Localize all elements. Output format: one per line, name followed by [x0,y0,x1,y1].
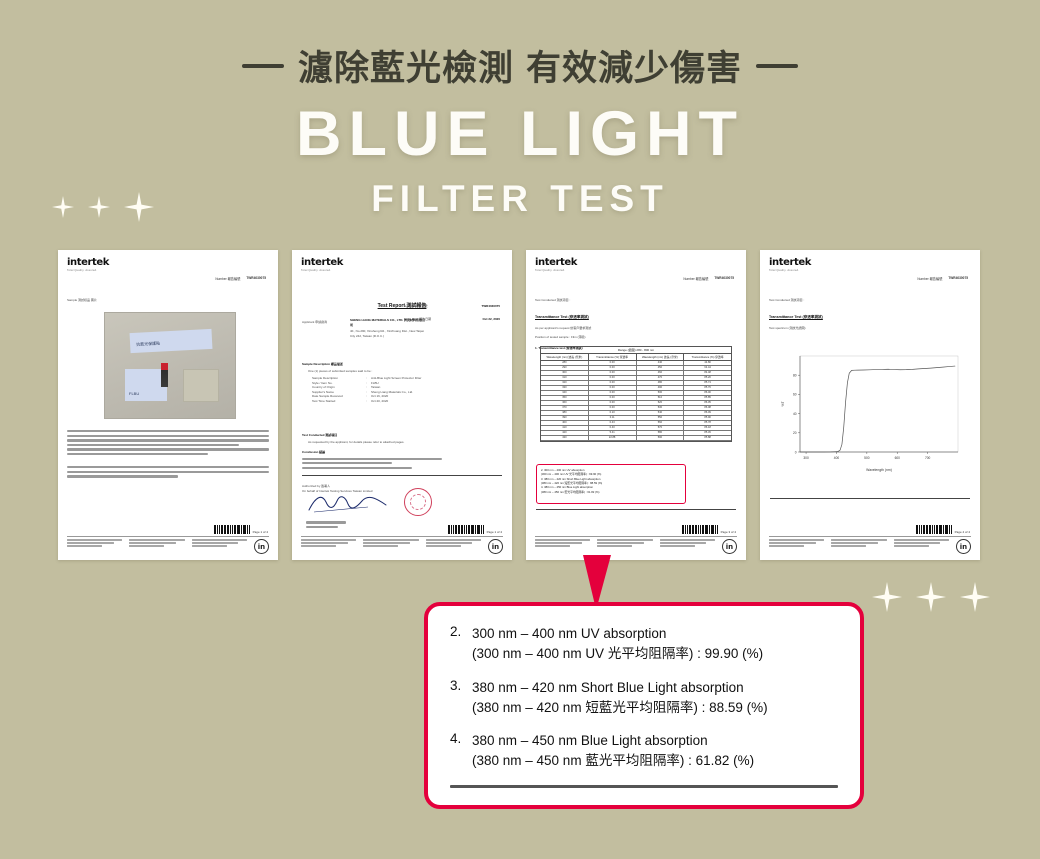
svg-text:20: 20 [793,431,797,435]
chinese-headline-left: 濾除藍光檢測 [298,49,514,89]
table-cell: 310 [541,376,589,380]
sample-field-value: Oct 20, 2020 [371,399,388,404]
report-number-row: Number 報告編號 TWR4030075 [917,276,968,281]
table-cell: 350 [541,396,589,400]
table-cell: 0.00 [589,401,637,405]
table-cell: 5.41 [589,431,637,435]
transmittance-table: Range (範圍) 280 - 800 nm Wavelength (nm) … [540,346,732,442]
svg-text:600: 600 [895,456,901,460]
results-callout: 2. 300 nm – 400 nm UV absorption (300 nm… [424,602,864,809]
table-cell: 85.20 [684,376,731,380]
result-line-en: 380 nm – 420 nm Short Blue Light absorpt… [472,680,744,695]
report-number-label: Number 報告編號 [404,304,478,309]
barcode [682,525,718,534]
table-cell: 85.74 [684,381,731,385]
result-item: 2. 300 nm – 400 nm UV absorption (300 nm… [450,624,838,665]
column-header: Wavelength (nm) 波長 (奈米) [637,354,685,360]
table-range-header: Range (範圍) 280 - 800 nm [541,347,731,354]
disclaimer-text [67,430,269,457]
footer-col [129,539,187,548]
sample-section: Sample Description 樣品描述 One (1) pieces o… [302,362,502,403]
table-cell: 0.00 [589,396,637,400]
in-logo-icon: in [956,539,971,554]
intertek-logo: intertek [535,257,737,268]
svg-text:300: 300 [803,456,809,460]
page-subtitle: FILTER TEST [0,178,1040,220]
sparkle-icon [960,582,990,612]
photo-label-large: 抗藍光保護貼 [130,329,213,353]
document-card-photo[interactable]: intertek Total Quality. Assured. Number … [58,250,278,560]
table-cell: 0.11 [589,416,637,420]
report-number-value: TWR4030075 [714,276,734,281]
sparkle-icon [124,192,154,222]
in-logo-icon: in [488,539,503,554]
report-number-value: TWR4030075 [948,276,968,281]
chinese-headline-right: 有效減少傷害 [526,49,742,89]
table-cell: 400 [541,421,589,425]
table-cell: 0.00 [589,406,637,410]
table-cell: 420 [541,431,589,435]
table-cell: 300 [541,371,589,375]
in-logo-icon: in [254,539,269,554]
applicant-value: SHENG LIANG MATERIALS CO., LTD. 昇亮材料有限公司 [350,318,428,327]
chinese-headline-text: 濾除藍光檢測有效減少傷害 [298,40,742,91]
table-cell: 85.85 [684,396,731,400]
result-number: 2. [450,624,464,665]
callout-underline [450,785,838,788]
report-number-label: Number 報告編號 [917,276,942,281]
document-card-chart[interactable]: intertek Total Quality. Assured. Number … [760,250,980,560]
footer-col [769,539,827,548]
table-cell: 500 [637,391,685,395]
document-footer: in [67,536,269,555]
table-cell: 410 [541,426,589,430]
document-footer: in [535,536,737,555]
table-cell: 0.10 [589,411,637,415]
in-logo-icon: in [722,539,737,554]
table-cell: 0.00 [589,391,637,395]
footer-col [192,539,250,548]
table-cell: 0.00 [589,371,637,375]
table-cell: 360 [541,401,589,405]
table-cell: 86.00 [684,391,731,395]
table-cell: 460 [637,371,685,375]
test-conducted-label: Test Conducted 測試項目 : [769,298,971,303]
transmittance-subtitle-2: Position of tested sample : Film (薄膜) [535,335,737,340]
svg-text:40: 40 [793,412,797,416]
poster-canvas: 濾除藍光檢測有效減少傷害 BLUE LIGHT FILTER TEST inte… [0,0,1040,859]
table-cell: 86.09 [684,411,731,415]
sample-field-list: Sample Description:Anti-Blue Light Scree… [312,376,502,403]
table-cell: 0.00 [589,376,637,380]
table-cell: 85.88 [684,436,731,440]
sparkle-icon [52,196,74,218]
sample-field-key: Test Time Started [312,399,366,404]
sample-section-title: Sample Description 樣品描述 [302,362,502,367]
table-cell: 550 [637,416,685,420]
table-cell: 320 [541,381,589,385]
barcode-row: Page 1 of 4 [448,525,502,534]
result-line: (380 nm – 450 nm 藍光平均阻隔率) : 61.82 (%) [541,490,681,494]
headline-dash-right [756,64,798,68]
transmittance-subtitle-1: As per applicant's request 依客戶要求測試 [535,326,737,331]
result-body: 380 nm – 420 nm Short Blue Light absorpt… [472,678,768,719]
sparkle-group-right [872,582,990,612]
column-header: Transmittance (%) 穿透率 [589,354,637,360]
svg-text:500: 500 [864,456,870,460]
table-cell: 390 [541,416,589,420]
disclaimer-text-2 [67,466,269,480]
result-body: 300 nm – 400 nm UV absorption (300 nm – … [472,624,763,665]
document-card-table[interactable]: intertek Total Quality. Assured. Number … [526,250,746,560]
photo-sample-swatch [183,369,219,402]
svg-text:60: 60 [793,393,797,397]
test-section-title: Test Conducted 測試項目 [302,433,502,438]
barcode [448,525,484,534]
table-cell: 540 [637,411,685,415]
table-cell: 44.80 [684,361,731,365]
table-cell: 0.00 [589,361,637,365]
issue-date-value: Oct 22, 2020 [482,317,500,322]
barcode [214,525,250,534]
table-cell: 0.00 [589,381,637,385]
table-cell: 580 [637,431,685,435]
table-cell: 510 [637,396,685,400]
conclusion-section: Conclusion 結論 [302,450,502,471]
photo-caption: Sample 測試樣品 圖片 [67,298,269,303]
svg-text:%T: %T [781,401,785,406]
footer-col [597,539,655,548]
signer-name-block [306,521,346,528]
table-cell: 520 [637,401,685,405]
table-cell: 340 [541,391,589,395]
sample-section-line: One (1) pieces of submitted samples said… [308,369,502,374]
result-line-cn: (380 nm – 420 nm 短藍光平均阻隔率) : 88.59 (%) [472,700,768,715]
table-cell: 380 [541,411,589,415]
document-card-report[interactable]: intertek Total Quality. Assured. Test Re… [292,250,512,560]
barcode-row: Page 4 of 4 [916,525,970,534]
signature [306,492,398,514]
sparkle-group-left [52,192,154,222]
footer-col [301,539,359,548]
report-number-value: TWR4030075 [481,304,500,309]
result-number: 4. [450,731,464,772]
table-cell: 370 [541,406,589,410]
table-cell: 84.48 [684,371,731,375]
footer-col [660,539,718,548]
table-cell: 490 [637,386,685,390]
chinese-headline: 濾除藍光檢測有效減少傷害 [0,40,1040,91]
highlighted-results-box: 2. 300 nm – 400 nm UV absorption (300 nm… [536,464,686,504]
sample-field-row: Test Time Started:Oct 20, 2020 [312,399,502,404]
report-number-row: Number 報告編號 TWR4030075 [215,276,266,281]
barcode-row: Page 1 of 4 [214,525,268,534]
intertek-tagline: Total Quality. Assured. [301,269,503,272]
footer-col [426,539,484,548]
footer-col [363,539,421,548]
spectrum-plot: 300400500600700020406080Wavelength (nm)%… [778,348,964,476]
svg-text:700: 700 [925,456,931,460]
page-label: Page 4 of 4 [955,530,970,534]
table-row: 43022.8859085.88 [541,436,731,441]
sparkle-icon [872,582,902,612]
table-cell: 85.90 [684,416,731,420]
document-footer: in [301,536,503,555]
intertek-logo: intertek [67,257,269,268]
transmittance-section-title: Transmittance Test (穿透率測試) [769,315,971,320]
svg-text:0: 0 [795,450,797,454]
transmittance-chart: 300400500600700020406080Wavelength (nm)%… [778,348,964,476]
result-line-en: 300 nm – 400 nm UV absorption [472,626,666,641]
table-cell: 570 [637,426,685,430]
page-label: Page 1 of 4 [253,530,268,534]
applicant-value-block: SHENG LIANG MATERIALS CO., LTD. 昇亮材料有限公司… [350,318,428,338]
intertek-tagline: Total Quality. Assured. [769,269,971,272]
conclusion-title: Conclusion 結論 [302,450,502,455]
table-cell: 280 [541,361,589,365]
headline-dash-left [242,64,284,68]
applicant-address: 4F., No.290, Xinsheng Rd., Xinzhuang Dis… [350,329,428,338]
report-number-label: Number 報告編號 [683,276,708,281]
table-cell: 440 [637,361,685,365]
barcode [916,525,952,534]
footer-col [831,539,889,548]
table-cell: 430 [541,436,589,440]
page-label: Page 3 of 4 [721,530,736,534]
table-cell: 290 [541,366,589,370]
table-column-headers: Wavelength (nm) 波長 (奈米) Transmittance (%… [541,354,731,361]
chart-caption: Test spectrum (測試光譜圖) [769,326,971,331]
table-cell: 0.43 [589,421,637,425]
table-cell: 64.44 [684,366,731,370]
footer-col [894,539,952,548]
transmittance-section-title: Transmittance Test (穿透率測試) [535,315,737,320]
intertek-tagline: Total Quality. Assured. [535,269,737,272]
table-cell: 470 [637,376,685,380]
document-footer: in [769,536,971,555]
result-line-cn: (300 nm – 400 nm UV 光平均阻隔率) : 99.90 (%) [472,646,763,661]
table-cell: 86.05 [684,401,731,405]
table-cell: 22.88 [589,436,637,440]
test-conducted-label: Test Conducted 測試項目 : [535,298,737,303]
result-item: 4. 380 nm – 450 nm Blue Light absorption… [450,731,838,772]
result-number: 3. [450,678,464,719]
footer-col [535,539,593,548]
table-cell: 0.40 [589,426,637,430]
svg-text:80: 80 [793,374,797,378]
table-cell: 85.76 [684,386,731,390]
table-cell: 590 [637,436,685,440]
table-cell: 86.08 [684,406,731,410]
table-body: 2800.0044044.802900.0045064.443000.00460… [541,361,731,441]
barcode-row: Page 3 of 4 [682,525,736,534]
table-cell: 560 [637,421,685,425]
official-stamp [404,488,432,516]
sample-photo: 抗藍光保護貼 FLBU [104,312,236,419]
table-cell: 450 [637,366,685,370]
svg-text:400: 400 [834,456,840,460]
test-conducted-section: Test Conducted 測試項目 As requested by the … [302,433,502,444]
table-cell: 0.00 [589,366,637,370]
table-cell: 85.45 [684,431,731,435]
page-title: BLUE LIGHT [0,103,1040,166]
table-cell: 0.00 [589,386,637,390]
result-body: 380 nm – 450 nm Blue Light absorption (3… [472,731,754,772]
table-cell: 85.78 [684,421,731,425]
document-gallery: intertek Total Quality. Assured. Number … [58,250,980,560]
test-section-line: As requested by the applicant, for detai… [308,440,502,445]
intertek-logo: intertek [769,257,971,268]
table-cell: 530 [637,406,685,410]
report-number-label: Number 報告編號 [215,276,240,281]
table-cell: 480 [637,381,685,385]
result-line-en: 380 nm – 450 nm Blue Light absorption [472,733,708,748]
report-number-row: Number 報告編號 TWR4030075 [683,276,734,281]
footer-col [67,539,125,548]
sparkle-icon [88,196,110,218]
column-header: Wavelength (nm) 波長 (奈米) [541,354,589,360]
intertek-logo: intertek [301,257,503,268]
svg-text:Wavelength (nm): Wavelength (nm) [866,468,892,472]
table-cell: 330 [541,386,589,390]
page-label: Page 1 of 4 [487,530,502,534]
result-item: 3. 380 nm – 420 nm Short Blue Light abso… [450,678,838,719]
column-header: Transmittance (%) 穿透率 [684,354,731,360]
result-line-cn: (380 nm – 450 nm 藍光平均阻隔率) : 61.82 (%) [472,753,754,768]
table-cell: 86.18 [684,426,731,430]
sparkle-icon [916,582,946,612]
report-number-value: TWR4030075 [246,276,266,281]
intertek-tagline: Total Quality. Assured. [67,269,269,272]
photo-marker-pen [161,363,168,387]
